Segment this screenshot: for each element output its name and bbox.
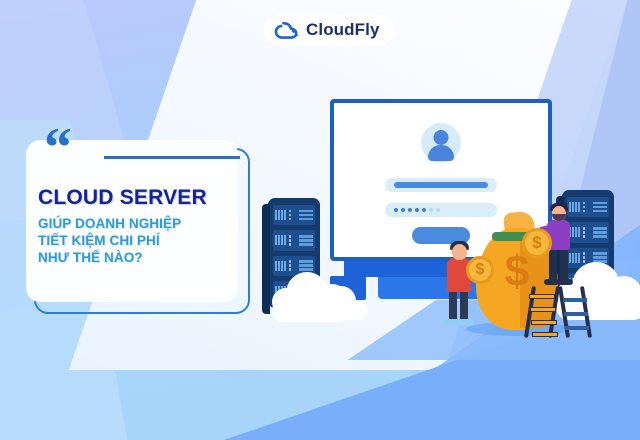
server-rack-row bbox=[567, 197, 609, 217]
user-avatar-icon bbox=[434, 130, 449, 145]
server-bars bbox=[275, 210, 286, 220]
server-bars bbox=[569, 253, 580, 263]
banner-canvas: CloudFly “ CLOUD SERVER GIÚP DOANH NGHIỆ… bbox=[0, 0, 640, 440]
cloudfly-logo[interactable]: CloudFly bbox=[264, 14, 394, 46]
server-rack-side-panel bbox=[262, 204, 270, 314]
quote-mark-icon: “ bbox=[44, 126, 70, 170]
user-avatar-body bbox=[428, 145, 454, 161]
coin-icon: $ bbox=[466, 256, 494, 284]
server-rack-row bbox=[273, 205, 315, 225]
server-leds bbox=[289, 210, 292, 221]
page-title: CLOUD SERVER bbox=[38, 186, 234, 210]
server-leds bbox=[289, 260, 292, 271]
server-leds bbox=[583, 202, 586, 213]
server-rack-row bbox=[567, 222, 609, 242]
server-bars bbox=[275, 235, 286, 245]
server-rack-row bbox=[273, 230, 315, 250]
server-leds bbox=[583, 227, 586, 238]
subtitle-line-3: NHƯ THẾ NÀO? bbox=[38, 249, 234, 266]
server-blocks bbox=[299, 210, 313, 221]
username-input-value bbox=[394, 182, 488, 188]
quote-card-text: CLOUD SERVER GIÚP DOANH NGHIỆP TIẾT KIỆM… bbox=[38, 186, 234, 266]
logo-text: CloudFly bbox=[306, 20, 380, 40]
password-input-value bbox=[394, 206, 488, 214]
server-leds bbox=[289, 235, 292, 246]
server-blocks bbox=[593, 202, 607, 213]
quote-divider-rule bbox=[104, 156, 240, 159]
server-bars bbox=[569, 202, 580, 212]
ladder bbox=[526, 286, 588, 338]
server-blocks bbox=[299, 235, 313, 246]
subtitle-line-1: GIÚP DOANH NGHIỆP bbox=[38, 215, 234, 232]
coin-icon: $ bbox=[522, 228, 552, 258]
subtitle-line-2: TIẾT KIỆM CHI PHÍ bbox=[38, 232, 234, 249]
server-blocks bbox=[593, 227, 607, 238]
server-bars bbox=[275, 261, 286, 271]
cloud-icon bbox=[274, 19, 300, 41]
server-bars bbox=[569, 227, 580, 237]
page-subtitle: GIÚP DOANH NGHIỆP TIẾT KIỆM CHI PHÍ NHƯ … bbox=[38, 215, 234, 266]
server-blocks bbox=[299, 260, 313, 271]
server-leds bbox=[583, 252, 586, 263]
